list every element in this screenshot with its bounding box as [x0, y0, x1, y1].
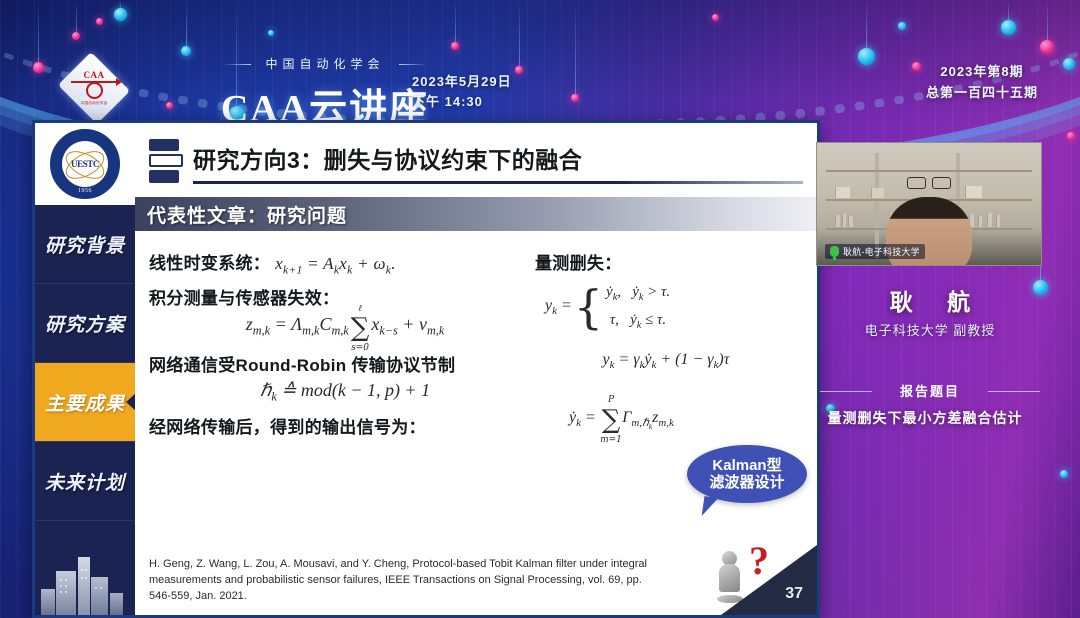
caa-logo-mark: CAA 中国自动化学会: [52, 58, 136, 118]
webinar-screen: CAA 中国自动化学会 中国自动化学会 CAA云讲座 2023年5月29日 下午…: [0, 0, 1080, 618]
censored-measurement-label: 量测删失：: [535, 254, 622, 273]
uestc-logo-label: UESTC: [71, 159, 99, 169]
brand-org-line: 中国自动化学会: [231, 55, 418, 72]
linear-system-label: 线性时变系统：: [149, 254, 270, 273]
issue-info: 2023年第8期 总第一百四十五期: [926, 62, 1038, 104]
section-banner: 代表性文章：研究问题: [135, 197, 817, 231]
participant-name-label: 耿航-电子科技大学: [825, 244, 925, 259]
header-shade: [0, 0, 1080, 122]
sidebar-item-label: 研究背景: [45, 231, 125, 258]
event-datetime: 2023年5月29日 下午 14:30: [412, 72, 512, 112]
linear-system-row: 线性时变系统： xk+1 = Akxk + ωk.: [149, 249, 541, 276]
right-column: 量测删失： yk = { ẏk, ẏk > τ. τ, ẏk ≤ τ.: [535, 241, 797, 439]
reference-citation: H. Geng, Z. Wang, L. Zou, A. Mousavi, an…: [149, 557, 649, 605]
sidebar-item-label: 主要成果: [45, 389, 125, 416]
caa-logo: CAA 中国自动化学会: [52, 58, 136, 118]
linear-system-equation: xk+1 = Akxk + ωk.: [275, 254, 396, 273]
topic-title: 量测删失下最小方差融合估计: [808, 408, 1042, 428]
censored-measurement-cases-equation: yk = { ẏk, ẏk > τ. τ, ẏk ≤ τ.: [535, 284, 797, 331]
uestc-logo: UESTC 1956: [35, 123, 135, 205]
sidebar-item-background[interactable]: 研究背景: [35, 205, 135, 284]
left-column: 线性时变系统： xk+1 = Akxk + ωk. 积分测量与传感器失效： zm…: [149, 249, 541, 438]
slide-content: 研究方向3：删失与协议约束下的融合 代表性文章：研究问题 线性时变系统： xk+…: [135, 123, 817, 615]
integral-measurement-equation: zm,k = Λm,kCm,k∑ℓs=0xk−s + vm,k: [149, 313, 541, 343]
round-robin-label-row: 网络通信受Round-Robin 传输协议节制: [149, 351, 541, 376]
round-robin-label: 网络通信受Round-Robin 传输协议节制: [149, 356, 455, 375]
uestc-logo-atom-icon: UESTC: [62, 141, 108, 187]
topic-label: 报告题目: [818, 381, 1042, 400]
integral-measurement-label-row: 积分测量与传感器失效：: [149, 284, 541, 309]
slide-title: 研究方向3：删失与协议约束下的融合: [193, 141, 803, 175]
transmitted-output-equation: ẏk = ∑Pm=1Γm,ℏkzm,k: [535, 405, 797, 435]
slide-body: 线性时变系统： xk+1 = Akxk + ωk. 积分测量与传感器失效： zm…: [135, 231, 817, 438]
slide-sidebar: UESTC 1956 研究背景 研究方案 主要成果 未来计划: [35, 123, 135, 615]
speaker-affiliation: 电子科技大学 副教授: [818, 320, 1042, 339]
issue-total-number: 总第一百四十五期: [926, 83, 1038, 104]
speaker-video-tile[interactable]: 耿航-电子科技大学: [816, 142, 1042, 266]
uestc-logo-year: 1956: [52, 188, 118, 194]
books-icon: [149, 139, 183, 185]
sidebar-item-approach[interactable]: 研究方案: [35, 284, 135, 363]
callout-bubble: Kalman型 滤波器设计: [687, 445, 807, 503]
issue-year-number: 2023年第8期: [926, 62, 1038, 83]
censored-measurement-linear-equation: yk = γkẏk + (1 − γk)τ: [535, 351, 797, 371]
title-underline: [193, 181, 803, 184]
sidebar-item-results[interactable]: 主要成果: [35, 363, 135, 442]
page-number: 37: [785, 585, 803, 603]
round-robin-equation: ℏk ≙ mod(k − 1, p) + 1: [149, 380, 541, 405]
sidebar-item-label: 研究方案: [45, 310, 125, 337]
section-banner-label: 代表性文章：研究问题: [147, 201, 347, 228]
output-signal-label-row: 经网络传输后，得到的输出信号为：: [149, 413, 541, 438]
censored-measurement-label-row: 量测删失：: [535, 249, 797, 274]
sidebar-item-future-plan[interactable]: 未来计划: [35, 442, 135, 521]
caa-logo-arrow-icon: [71, 81, 117, 83]
integral-measurement-label: 积分测量与传感器失效：: [149, 289, 339, 308]
event-date: 2023年5月29日: [412, 72, 512, 92]
event-time: 下午 14:30: [412, 92, 512, 112]
sidebar-item-label: 未来计划: [45, 468, 125, 495]
presentation-slide[interactable]: UESTC 1956 研究背景 研究方案 主要成果 未来计划: [32, 120, 820, 618]
caa-logo-subtext: 中国自动化学会: [80, 100, 107, 105]
slide-header: 研究方向3：删失与协议约束下的融合: [135, 123, 817, 185]
speaker-name: 耿 航: [818, 283, 1042, 317]
callout-line-2: 滤波器设计: [709, 474, 784, 491]
city-skyline-graphic: [35, 541, 135, 615]
participant-name-text: 耿航-电子科技大学: [843, 245, 920, 258]
caa-logo-text: CAA: [84, 71, 105, 80]
eyeglasses-icon: [907, 177, 951, 187]
microphone-icon: [830, 246, 839, 257]
caa-logo-ring-icon: [86, 82, 103, 99]
page-number-corner: 37: [721, 545, 817, 615]
uestc-logo-ring: UESTC 1956: [50, 129, 120, 199]
callout-line-1: Kalman型: [712, 457, 781, 474]
output-signal-label: 经网络传输后，得到的输出信号为：: [149, 418, 426, 437]
